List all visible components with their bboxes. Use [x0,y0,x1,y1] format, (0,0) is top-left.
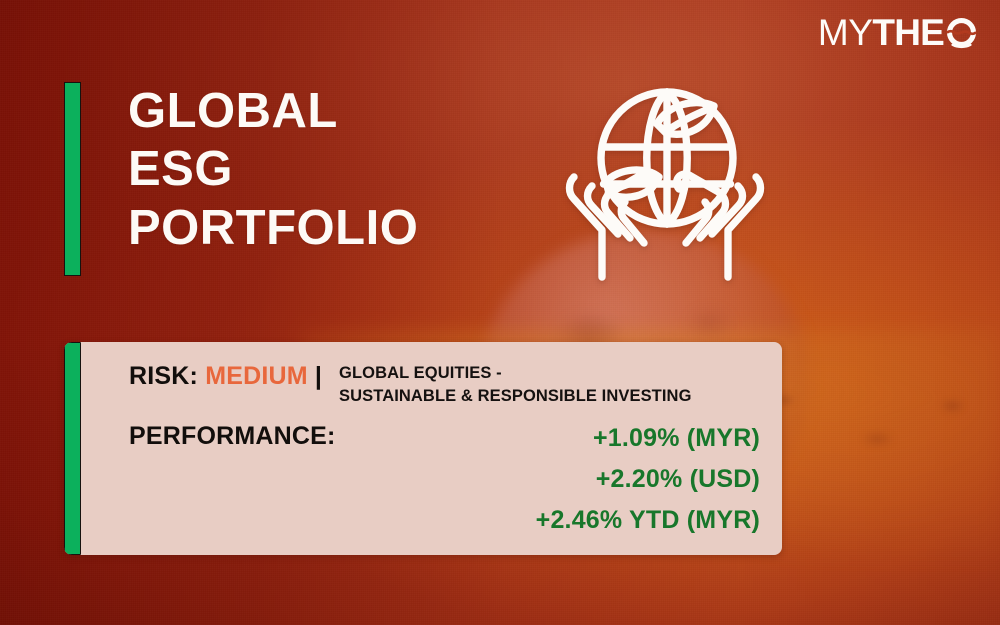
card-body: RISK: MEDIUM| GLOBAL EQUITIES - SUSTAINA… [81,342,782,555]
theo-ring-icon [945,16,978,49]
performance-value-ytd-myr: +2.46% YTD (MYR) [536,500,760,541]
page-title: GLOBAL ESG PORTFOLIO [128,82,418,276]
portfolio-info-card: RISK: MEDIUM| GLOBAL EQUITIES - SUSTAINA… [64,342,782,555]
performance-value-myr: +1.09% (MYR) [536,418,760,459]
risk-label: RISK: [129,362,198,390]
brand-logo: MY THE [818,14,978,51]
risk-value-badge: MEDIUM [205,362,308,390]
performance-label: PERFORMANCE: [129,422,336,451]
performance-value-usd: +2.20% (USD) [536,459,760,500]
risk-separator: | [315,362,322,390]
globe-in-hands-icon [556,76,774,286]
performance-values: +1.09% (MYR) +2.20% (USD) +2.46% YTD (MY… [536,418,760,541]
risk-row: RISK: MEDIUM| GLOBAL EQUITIES - SUSTAINA… [129,360,782,408]
headline-block: GLOBAL ESG PORTFOLIO [64,82,418,276]
headline-accent-bar [64,82,81,276]
strategy-description: GLOBAL EQUITIES - SUSTAINABLE & RESPONSI… [339,362,691,408]
logo-text-theo: THE [872,14,944,51]
card-accent-bar [64,342,81,555]
risk-label-group: RISK: MEDIUM| [129,360,322,394]
logo-text-my: MY [818,14,873,51]
poster-canvas: MY THE GLOBAL ESG PORTFOLIO [0,0,1000,625]
